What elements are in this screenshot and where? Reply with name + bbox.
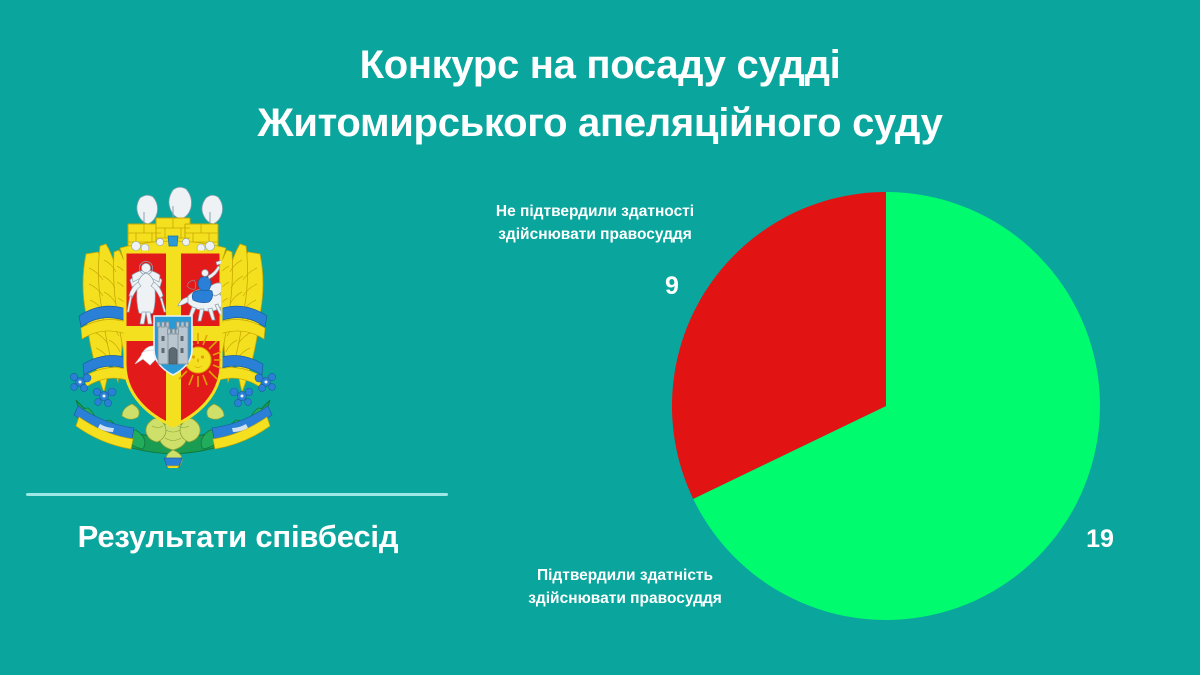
pie-label-confirmed-line2: здійснювати правосуддя: [528, 590, 722, 607]
pie-label-confirmed-line1: Підтвердили здатність: [537, 567, 713, 584]
pie-label-confirmed: Підтвердили здатність здійснювати правос…: [470, 564, 780, 611]
infographic-slide: Конкурс на посаду судді Житомирського ап…: [0, 0, 1200, 675]
pie-value-confirmed: 19: [1055, 525, 1145, 554]
pie-label-not-confirmed: Не підтвердили здатності здійснювати пра…: [455, 200, 735, 247]
pie-label-not-confirmed-line1: Не підтвердили здатності: [496, 203, 694, 220]
pie-value-not-confirmed: 9: [632, 272, 712, 301]
pie-label-not-confirmed-line2: здійснювати правосуддя: [498, 226, 692, 243]
